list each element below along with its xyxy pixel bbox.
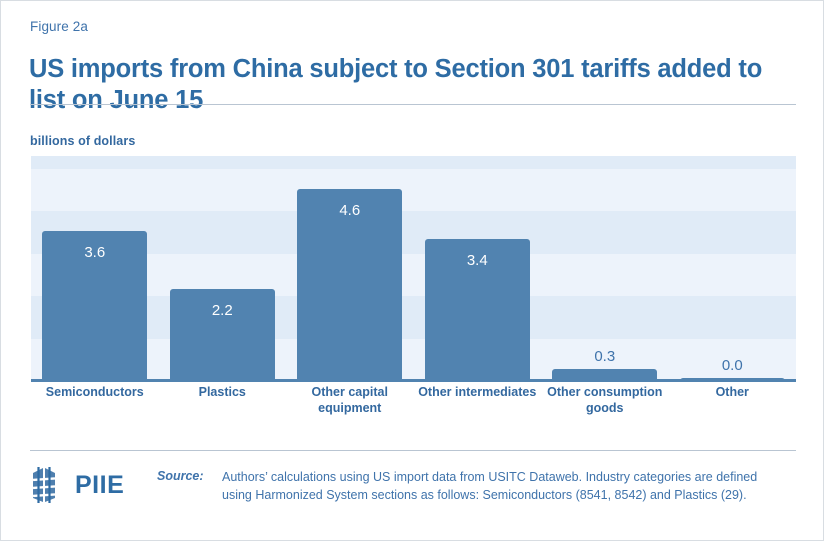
bar-slot: 0.3: [541, 156, 669, 381]
x-axis-category-labels: SemiconductorsPlasticsOther capital equi…: [31, 385, 796, 445]
x-axis-label: Other capital equipment: [286, 385, 414, 416]
bar-value-label: 2.2: [159, 302, 287, 319]
footer-divider: [30, 450, 796, 451]
piie-building-logo-icon: [31, 465, 71, 510]
chart-bars-layer: 3.62.24.63.40.30.0: [31, 156, 796, 381]
x-axis-line: [31, 379, 796, 382]
x-axis-label: Plastics: [159, 385, 287, 401]
x-axis-label: Other: [669, 385, 797, 401]
figure-card: Figure 2a US imports from China subject …: [0, 0, 824, 541]
piie-logo: PIIE: [31, 463, 151, 507]
piie-logo-text: PIIE: [75, 471, 124, 500]
bar-value-label: 0.3: [541, 348, 669, 365]
page-title: US imports from China subject to Section…: [29, 54, 789, 116]
x-axis-label: Other intermediates: [414, 385, 542, 401]
bar-value-label: 3.4: [414, 252, 542, 269]
bar-value-label: 0.0: [669, 357, 797, 374]
x-axis-label: Other consumption goods: [541, 385, 669, 416]
bar-slot: 3.6: [31, 156, 159, 381]
y-axis-unit-label: billions of dollars: [30, 134, 135, 148]
figure-number-label: Figure 2a: [30, 19, 88, 35]
source-label: Source:: [157, 469, 204, 483]
bar-slot: 0.0: [669, 156, 797, 381]
bar-slot: 4.6: [286, 156, 414, 381]
header-divider: [30, 104, 796, 105]
source-text: Authors’ calculations using US import da…: [222, 469, 787, 504]
x-axis-label: Semiconductors: [31, 385, 159, 401]
bar-value-label: 3.6: [31, 244, 159, 261]
bar-value-label: 4.6: [286, 202, 414, 219]
bar-slot: 3.4: [414, 156, 542, 381]
bar-slot: 2.2: [159, 156, 287, 381]
